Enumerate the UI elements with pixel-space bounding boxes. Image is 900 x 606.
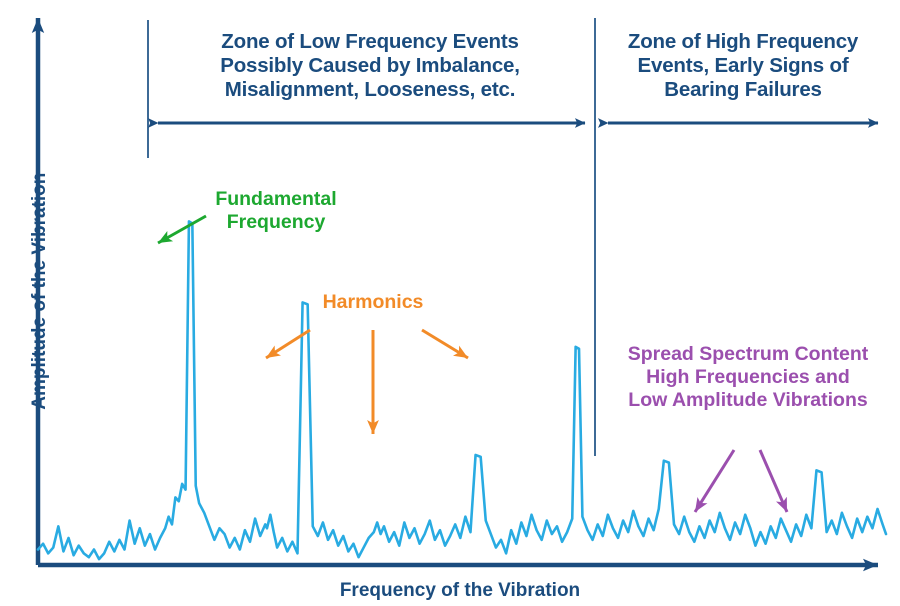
harmonic-arrow-right — [422, 330, 468, 358]
vibration-spectrum-chart: Zone of Low Frequency Events Possibly Ca… — [0, 0, 900, 606]
harmonic-arrow-left — [266, 330, 310, 358]
fundamental-frequency-label: Fundamental Frequency — [186, 188, 366, 234]
harmonics-label: Harmonics — [300, 291, 446, 314]
spread-arrow-left — [695, 450, 734, 512]
zone-high-frequency-label: Zone of High Frequency Events, Early Sig… — [598, 30, 888, 103]
spread-spectrum-label: Spread Spectrum Content High Frequencies… — [604, 343, 892, 412]
zone-low-frequency-label: Zone of Low Frequency Events Possibly Ca… — [150, 30, 590, 103]
x-axis-title: Frequency of the Vibration — [240, 580, 680, 602]
spread-arrow-right — [760, 450, 787, 512]
y-axis-title: Amplitude of the Vibration — [29, 121, 51, 461]
